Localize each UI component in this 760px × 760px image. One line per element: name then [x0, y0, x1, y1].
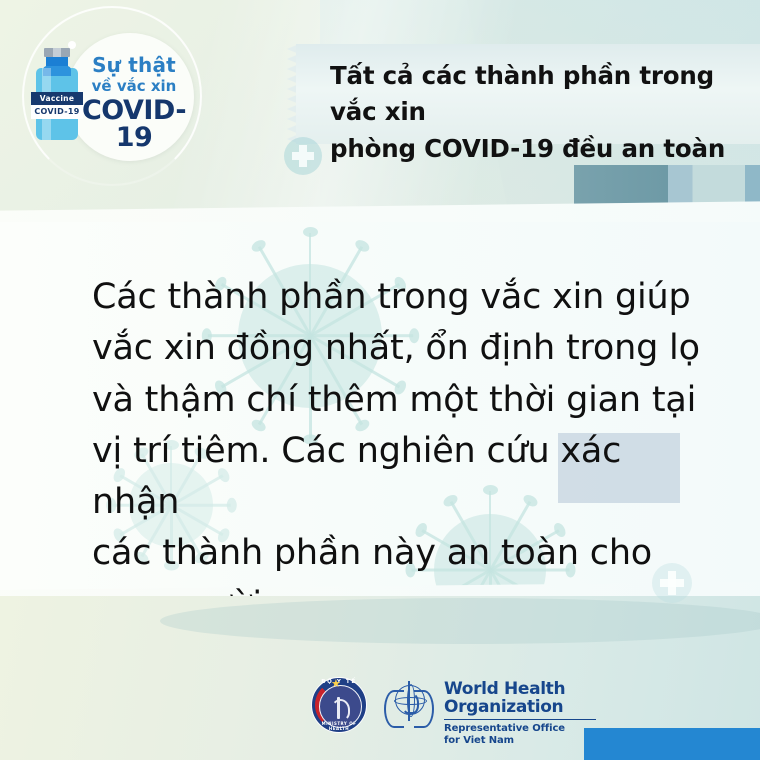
vial-label-covid: COVID-19	[31, 105, 83, 119]
body-line: các thành phần này an toàn cho	[92, 528, 708, 579]
infographic-poster: Tất cả các thành phần trong vắc xin phòn…	[0, 0, 760, 760]
vial-label-vaccine: Vaccine	[31, 92, 83, 105]
medical-cross-icon	[284, 137, 322, 175]
who-serpent-icon	[402, 692, 419, 714]
vial-cap-highlight	[53, 48, 61, 57]
vaccine-vial-icon: Vaccine COVID-19	[29, 48, 85, 142]
medical-cross-icon	[652, 563, 692, 603]
header-title: Tất cả các thành phần trong vắc xin phòn…	[330, 58, 750, 167]
who-name-line-2: Organization	[444, 698, 634, 716]
ministry-of-health-logo: BỘ Y TẾ ★ MINISTRY OF HEALTH	[311, 677, 367, 733]
who-divider	[444, 719, 596, 720]
footer-ellipse-shade	[160, 598, 760, 644]
moh-bottom-text: MINISTRY OF HEALTH	[311, 721, 367, 731]
footer-logos: BỘ Y TẾ ★ MINISTRY OF HEALTH World Healt…	[0, 672, 760, 748]
body-line: vắc xin đồng nhất, ổn định trong lọ	[92, 323, 708, 374]
badge-text: Sự thật về vắc xin COVID-19	[76, 55, 192, 151]
body-line: Các thành phần trong vắc xin giúp	[92, 272, 708, 323]
who-emblem-icon	[382, 680, 436, 732]
badge-line-2: về vắc xin	[76, 79, 192, 94]
badge-line-1: Sự thật	[76, 55, 192, 75]
badge-line-3: COVID-19	[76, 97, 192, 151]
body-line: vị trí tiêm. Các nghiên cứu xác nhận	[92, 426, 708, 529]
asclepius-snake-icon	[331, 699, 350, 721]
who-sub-line-2: for Viet Nam	[444, 735, 634, 747]
body-paragraph: Các thành phần trong vắc xin giúp vắc xi…	[92, 272, 708, 631]
header-title-line-2: phòng COVID-19 đều an toàn	[330, 131, 750, 167]
body-line: và thậm chí thêm một thời gian tại	[92, 375, 708, 426]
who-sub-line-1: Representative Office	[444, 723, 634, 735]
header-title-line-1: Tất cả các thành phần trong vắc xin	[330, 58, 750, 131]
who-wordmark: World Health Organization Representative…	[444, 680, 634, 747]
who-name-line-1: World Health	[444, 680, 634, 698]
